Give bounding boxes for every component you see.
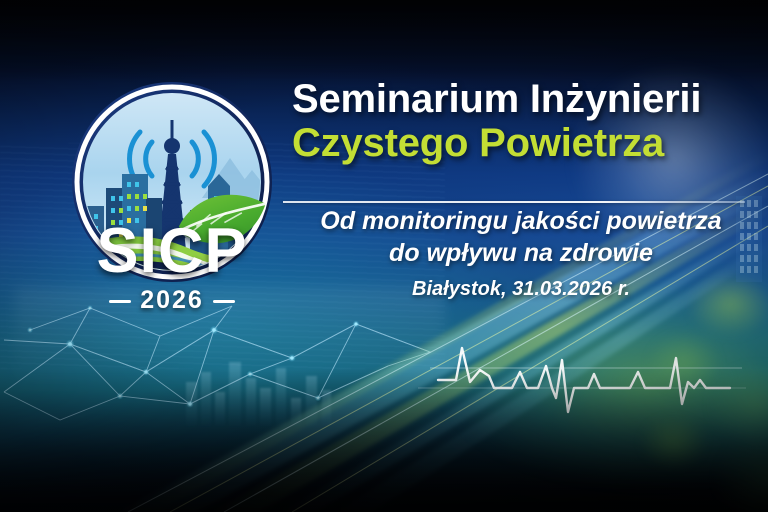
title-divider [283,201,745,203]
sicp-logo: SICP 2026 [62,70,282,318]
title-line-2: Czystego Powietrza [292,122,754,164]
logo-year: 2026 [62,286,282,315]
event-subtitle: Od monitoringu jakości powietrza do wpły… [292,206,750,301]
subtitle-line-2: do wpływu na zdrowie [292,238,750,270]
event-title: Seminarium Inżynierii Czystego Powietrza [292,78,754,165]
logo-acronym: SICP [62,220,282,283]
event-date-location: Białystok, 31.03.2026 r. [292,278,750,301]
subtitle-line-1: Od monitoringu jakości powietrza [292,206,750,238]
dash-left [109,300,131,303]
logo-year-text: 2026 [140,286,204,314]
dash-right [213,300,235,303]
event-banner: SICP 2026 Seminarium Inżynierii Czystego… [0,0,768,512]
title-line-1: Seminarium Inżynierii [292,78,754,120]
